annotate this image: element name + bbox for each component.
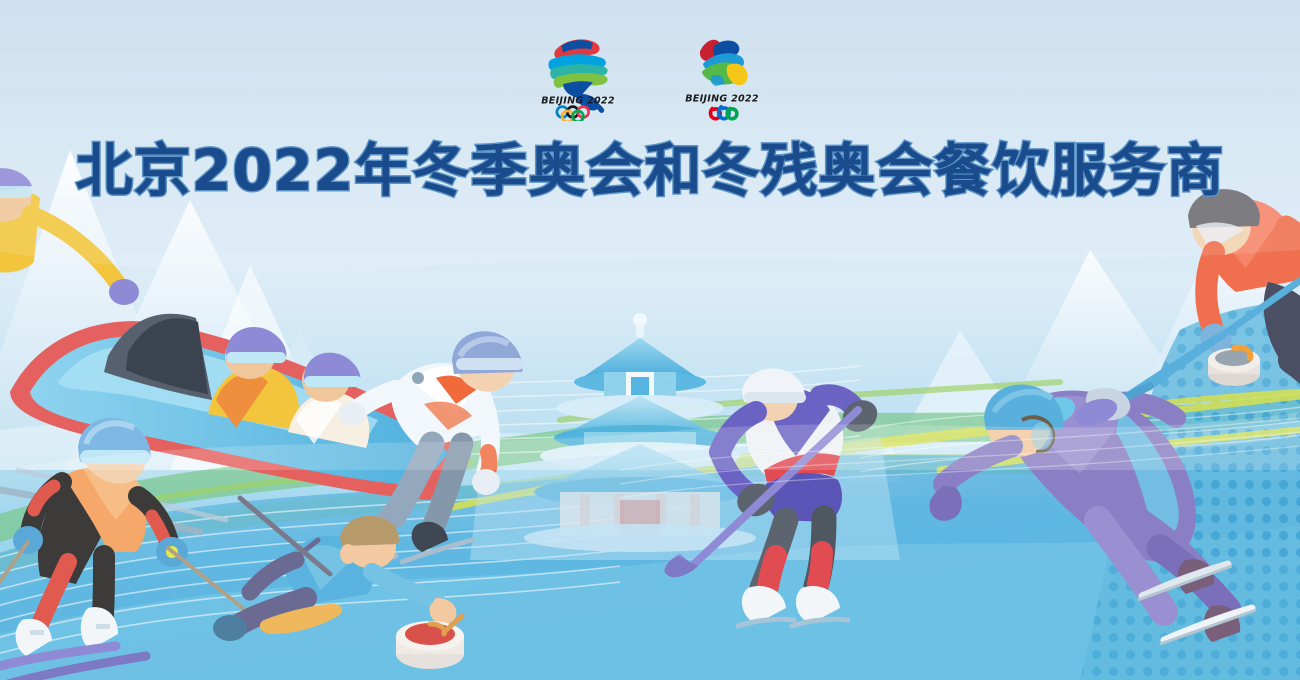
olympic-wordmark: BEIJING 2022 [541,95,615,106]
paralympic-ribbon-mark [700,40,748,86]
beijing-2022-paralympic-emblem: BEIJING 2022 [674,30,770,121]
paralympic-wordmark: BEIJING 2022 [685,94,759,105]
beijing-2022-olympic-emblem: BEIJING 2022 [530,30,626,121]
emblem-row: BEIJING 2022 [0,30,1300,121]
olympic-rings-icon [557,107,589,121]
page-title-stroke: 北京2022年冬季奥会和冬残奥会餐饮服务商 [0,140,1300,203]
beijing-2022-banner: BEIJING 2022 [0,0,1300,680]
page-title: 北京2022年冬季奥会和冬残奥会餐饮服务商 [76,140,1225,203]
agitos-icon [711,107,737,119]
